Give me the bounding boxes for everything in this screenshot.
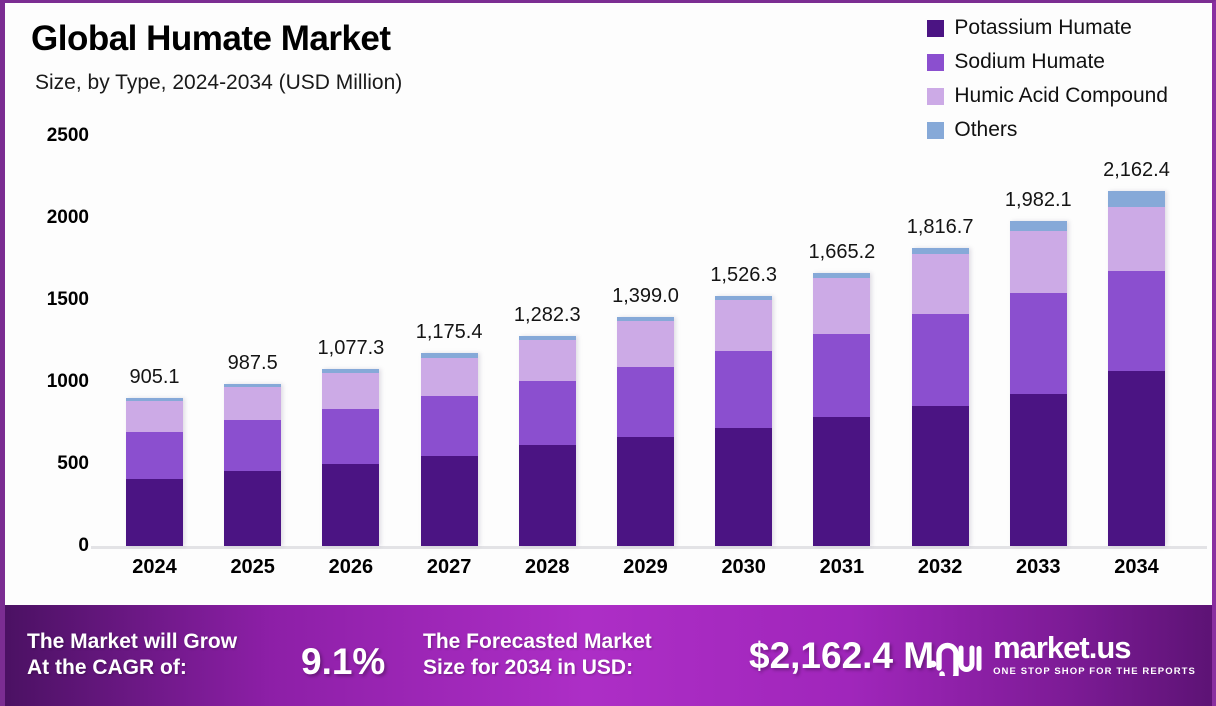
x-axis-tick-2029: 2029 bbox=[591, 556, 701, 579]
x-axis-tick-2033: 2033 bbox=[983, 556, 1093, 579]
bar-segment-sodium-humate[interactable] bbox=[617, 367, 674, 437]
bar-stack-2029[interactable] bbox=[617, 317, 674, 546]
y-axis-tick-1500: 1500 bbox=[5, 289, 89, 311]
y-axis-tick-1000: 1000 bbox=[5, 371, 89, 393]
bar-segment-humic-acid-compound[interactable] bbox=[813, 278, 870, 334]
bar-stack-2034[interactable] bbox=[1108, 191, 1165, 546]
bar-segment-humic-acid-compound[interactable] bbox=[322, 373, 379, 409]
bar-segment-sodium-humate[interactable] bbox=[1010, 293, 1067, 393]
brand-logo[interactable]: market.us ONE STOP SHOP FOR THE REPORTS bbox=[927, 632, 1196, 677]
bar-segment-sodium-humate[interactable] bbox=[126, 432, 183, 479]
infographic-root: Global Humate Market Size, by Type, 2024… bbox=[0, 0, 1216, 706]
market-us-logo-icon bbox=[927, 634, 983, 676]
cagr-label-line1: The Market will Grow bbox=[27, 629, 237, 655]
bar-segment-humic-acid-compound[interactable] bbox=[224, 387, 281, 420]
x-axis-tick-2030: 2030 bbox=[689, 556, 799, 579]
bar-segment-humic-acid-compound[interactable] bbox=[617, 321, 674, 367]
cagr-value: 9.1% bbox=[301, 641, 385, 683]
x-axis-tick-2031: 2031 bbox=[787, 556, 897, 579]
plot-area: 05001000150020002500 905.1987.51,077.31,… bbox=[5, 3, 1216, 603]
bar-stack-2024[interactable] bbox=[126, 398, 183, 546]
bar-stack-2030[interactable] bbox=[715, 296, 772, 546]
bar-stack-2032[interactable] bbox=[912, 248, 969, 546]
bar-segment-potassium-humate[interactable] bbox=[1108, 371, 1165, 546]
bar-segment-sodium-humate[interactable] bbox=[519, 381, 576, 445]
bar-total-label-2032: 1,816.7 bbox=[870, 216, 1010, 239]
bar-total-label-2030: 1,526.3 bbox=[674, 264, 814, 287]
bar-segment-potassium-humate[interactable] bbox=[421, 456, 478, 546]
y-axis-tick-500: 500 bbox=[5, 453, 89, 475]
bar-segment-potassium-humate[interactable] bbox=[715, 428, 772, 546]
bar-segment-sodium-humate[interactable] bbox=[912, 314, 969, 407]
forecast-value: $2,162.4 M bbox=[749, 635, 934, 677]
x-axis-tick-2034: 2034 bbox=[1082, 556, 1192, 579]
bar-segment-potassium-humate[interactable] bbox=[126, 479, 183, 546]
x-axis-tick-2026: 2026 bbox=[296, 556, 406, 579]
x-axis-tick-2025: 2025 bbox=[198, 556, 308, 579]
bar-segment-potassium-humate[interactable] bbox=[224, 471, 281, 546]
bar-stack-2033[interactable] bbox=[1010, 221, 1067, 546]
bar-stack-2027[interactable] bbox=[421, 353, 478, 546]
bar-segment-potassium-humate[interactable] bbox=[322, 464, 379, 546]
bar-segment-potassium-humate[interactable] bbox=[519, 445, 576, 546]
bar-segment-potassium-humate[interactable] bbox=[1010, 394, 1067, 546]
bar-segment-others[interactable] bbox=[1108, 191, 1165, 207]
bar-segment-sodium-humate[interactable] bbox=[813, 334, 870, 418]
x-axis-tick-2028: 2028 bbox=[492, 556, 602, 579]
bar-segment-potassium-humate[interactable] bbox=[813, 417, 870, 546]
bar-segment-sodium-humate[interactable] bbox=[421, 396, 478, 456]
forecast-label-line1: The Forecasted Market bbox=[423, 629, 652, 655]
bar-segment-sodium-humate[interactable] bbox=[224, 420, 281, 471]
x-axis-line bbox=[91, 546, 1207, 549]
bar-total-label-2033: 1,982.1 bbox=[968, 189, 1108, 212]
summary-banner: The Market will Grow At the CAGR of: 9.1… bbox=[5, 605, 1212, 706]
y-axis-tick-2000: 2000 bbox=[5, 207, 89, 229]
forecast-label: The Forecasted Market Size for 2034 in U… bbox=[423, 629, 652, 680]
y-axis-tick-2500: 2500 bbox=[5, 125, 89, 147]
brand-tagline: ONE STOP SHOP FOR THE REPORTS bbox=[993, 666, 1196, 677]
bar-segment-sodium-humate[interactable] bbox=[322, 409, 379, 465]
bar-total-label-2034: 2,162.4 bbox=[1067, 159, 1207, 182]
bar-total-label-2029: 1,399.0 bbox=[576, 285, 716, 308]
x-axis-tick-2032: 2032 bbox=[885, 556, 995, 579]
bar-stack-2026[interactable] bbox=[322, 369, 379, 546]
x-axis-tick-2027: 2027 bbox=[394, 556, 504, 579]
bar-segment-humic-acid-compound[interactable] bbox=[1108, 207, 1165, 271]
brand-wordmark: market.us ONE STOP SHOP FOR THE REPORTS bbox=[993, 632, 1196, 677]
bar-segment-sodium-humate[interactable] bbox=[715, 351, 772, 428]
bar-segment-humic-acid-compound[interactable] bbox=[715, 300, 772, 352]
bar-stack-2031[interactable] bbox=[813, 273, 870, 546]
cagr-label: The Market will Grow At the CAGR of: bbox=[27, 629, 237, 680]
bar-segment-humic-acid-compound[interactable] bbox=[1010, 231, 1067, 293]
bar-segment-humic-acid-compound[interactable] bbox=[421, 358, 478, 397]
bar-segment-potassium-humate[interactable] bbox=[617, 437, 674, 546]
bar-total-label-2031: 1,665.2 bbox=[772, 241, 912, 264]
x-axis-tick-2024: 2024 bbox=[100, 556, 210, 579]
y-axis-tick-0: 0 bbox=[5, 535, 89, 557]
bar-segment-potassium-humate[interactable] bbox=[912, 406, 969, 546]
forecast-label-line2: Size for 2034 in USD: bbox=[423, 655, 652, 681]
bar-stack-2025[interactable] bbox=[224, 384, 281, 546]
bar-segment-sodium-humate[interactable] bbox=[1108, 271, 1165, 371]
bar-segment-humic-acid-compound[interactable] bbox=[912, 254, 969, 314]
bar-stack-2028[interactable] bbox=[519, 336, 576, 546]
cagr-label-line2: At the CAGR of: bbox=[27, 655, 237, 681]
bar-segment-humic-acid-compound[interactable] bbox=[519, 340, 576, 381]
bar-segment-others[interactable] bbox=[1010, 221, 1067, 231]
bar-segment-humic-acid-compound[interactable] bbox=[126, 401, 183, 432]
brand-name: market.us bbox=[993, 632, 1130, 663]
